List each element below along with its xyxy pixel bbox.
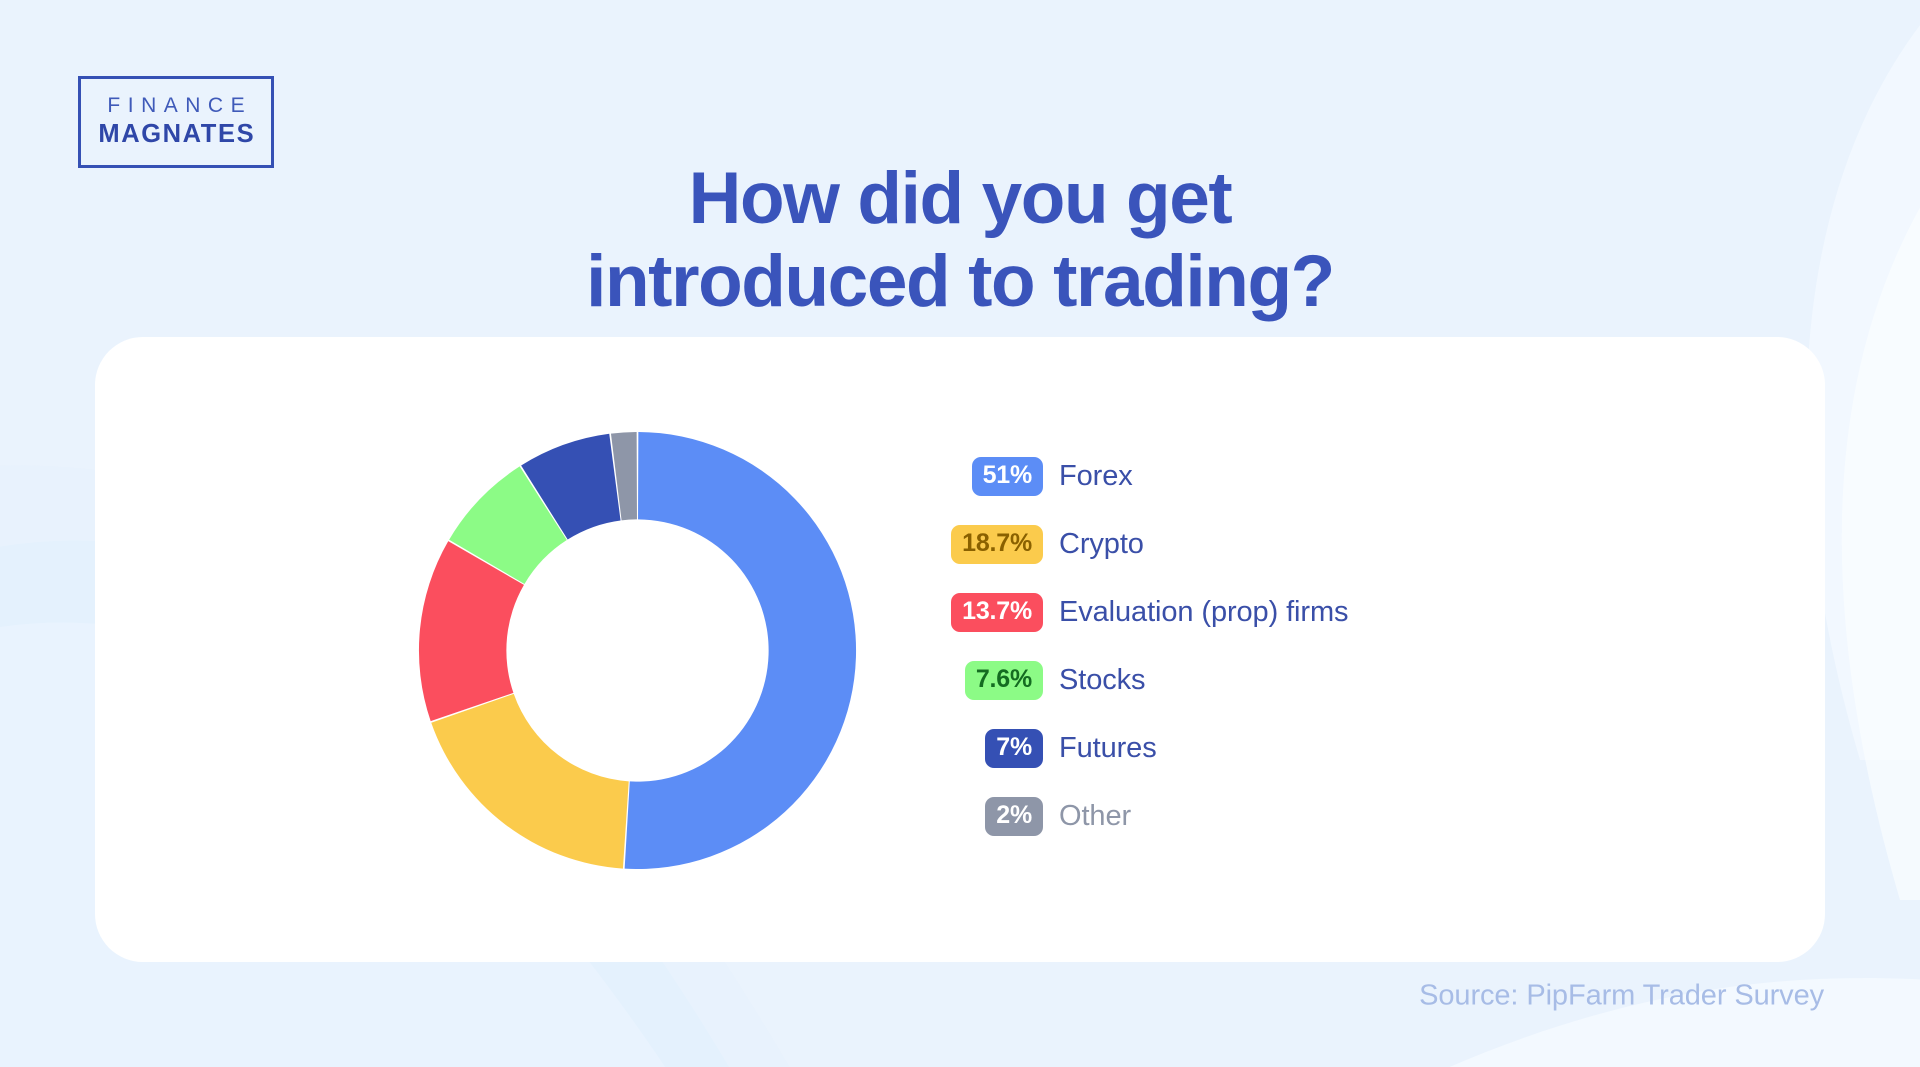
donut-chart <box>405 418 870 883</box>
legend-label-crypto: Crypto <box>1059 528 1144 561</box>
legend-label-stocks: Stocks <box>1059 664 1145 697</box>
legend-percent-badge-forex: 51% <box>972 457 1043 497</box>
legend-label-evaluation-prop-firms: Evaluation (prop) firms <box>1059 596 1348 629</box>
legend-badge-slot-crypto: 18.7% <box>963 525 1043 565</box>
legend-item-other[interactable]: 2%Other <box>963 795 1603 838</box>
legend-item-futures[interactable]: 7%Futures <box>963 727 1603 770</box>
logo-word-magnates: MAGNATES <box>97 119 255 151</box>
legend-badge-slot-evaluation-prop-firms: 13.7% <box>963 593 1043 633</box>
page-title-line-1: How did you get <box>0 157 1920 240</box>
legend-badge-slot-forex: 51% <box>963 457 1043 497</box>
source-note: Source: PipFarm Trader Survey <box>1419 980 1824 1013</box>
legend-label-futures: Futures <box>1059 732 1157 765</box>
legend-percent-badge-crypto: 18.7% <box>951 525 1043 565</box>
legend-item-stocks[interactable]: 7.6%Stocks <box>963 659 1603 702</box>
legend-badge-slot-futures: 7% <box>963 729 1043 769</box>
chart-legend: 51%Forex18.7%Crypto13.7%Evaluation (prop… <box>963 455 1603 838</box>
legend-percent-badge-futures: 7% <box>985 729 1043 769</box>
page-title: How did you get introduced to trading? <box>0 157 1920 323</box>
legend-item-crypto[interactable]: 18.7%Crypto <box>963 523 1603 566</box>
legend-percent-badge-stocks: 7.6% <box>965 661 1043 701</box>
page-title-line-2: introduced to trading? <box>0 240 1920 323</box>
legend-label-other: Other <box>1059 800 1131 833</box>
donut-slice-forex <box>625 432 856 869</box>
legend-percent-badge-evaluation-prop-firms: 13.7% <box>951 593 1043 633</box>
donut-slice-crypto <box>431 694 629 869</box>
legend-item-forex[interactable]: 51%Forex <box>963 455 1603 498</box>
legend-item-evaluation-prop-firms[interactable]: 13.7%Evaluation (prop) firms <box>963 591 1603 634</box>
donut-slice-group <box>419 432 856 869</box>
finance-magnates-logo: FINANCE MAGNATES <box>78 76 274 168</box>
logo-word-finance: FINANCE <box>100 93 252 119</box>
legend-badge-slot-stocks: 7.6% <box>963 661 1043 701</box>
legend-label-forex: Forex <box>1059 460 1133 493</box>
legend-percent-badge-other: 2% <box>985 797 1043 837</box>
legend-badge-slot-other: 2% <box>963 797 1043 837</box>
